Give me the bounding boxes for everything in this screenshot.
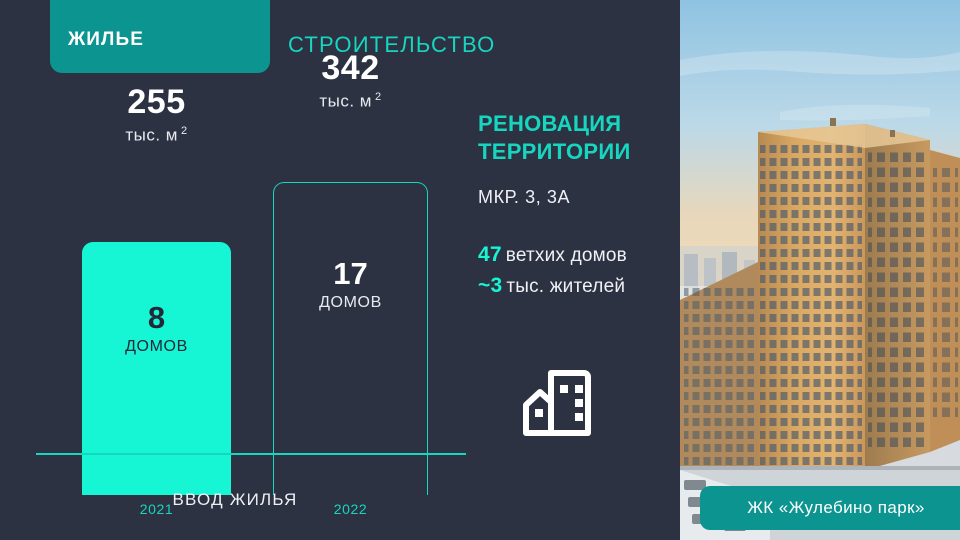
bar-group-2022: 342 тыс. м2 17 ДОМОВ 2022 (273, 137, 428, 495)
bar-group-2021: 255 тыс. м2 8 ДОМОВ 2021 (82, 137, 231, 495)
renovation-panel: РЕНОВАЦИЯ ТЕРРИТОРИИ МКР. 3, 3А 47ветхих… (478, 110, 678, 301)
bar-inner-2022: 17 ДОМОВ (274, 258, 427, 312)
bar-label-2022: 342 тыс. м2 (273, 51, 428, 111)
panel-heading: РЕНОВАЦИЯ ТЕРРИТОРИИ (478, 110, 678, 165)
panel-subtitle: МКР. 3, 3А (478, 187, 678, 208)
tab-zhilye[interactable]: ЖИЛЬЕ (50, 0, 270, 73)
bar-label-2021: 255 тыс. м2 (82, 85, 231, 145)
panel-heading-line2: ТЕРРИТОРИИ (478, 138, 678, 166)
slide-root: ЖИЛЬЕ СТРОИТЕЛЬСТВО 255 тыс. м2 8 ДОМОВ … (0, 0, 960, 540)
bar-count-unit-2022: ДОМОВ (274, 294, 427, 312)
bar-value-2021: 255 (82, 85, 231, 121)
bar-count-2022: 17 (274, 258, 427, 291)
stat-number-residents: ~3 (478, 274, 502, 297)
stat-text-residents: тыс. жителей (506, 276, 625, 297)
housing-bar-chart: 255 тыс. м2 8 ДОМОВ 2021 342 тыс. м2 17 … (0, 95, 470, 495)
bar-count-2021: 8 (82, 302, 231, 335)
stat-number-old-houses: 47 (478, 243, 502, 266)
tab-zhilye-label: ЖИЛЬЕ (68, 29, 144, 51)
building-house-icon (520, 365, 594, 446)
stat-row-residents: ~3тыс. жителей (478, 271, 678, 301)
photo-caption: ЖК «Жулебино парк» (700, 486, 960, 530)
bar-2021[interactable]: 8 ДОМОВ (82, 242, 231, 495)
chart-title: ВВОД ЖИЛЬЯ (0, 490, 470, 510)
stat-text-old-houses: ветхих домов (506, 245, 627, 266)
panel-stats: 47ветхих домов ~3тыс. жителей (478, 240, 678, 301)
residential-tower-photo (680, 0, 960, 540)
bar-unit-2021: тыс. м2 (82, 125, 231, 146)
photo-caption-text: ЖК «Жулебино парк» (747, 498, 925, 518)
chart-axis-line (36, 453, 466, 455)
bar-count-unit-2021: ДОМОВ (82, 338, 231, 356)
panel-heading-line1: РЕНОВАЦИЯ (478, 110, 678, 138)
stat-row-old-houses: 47ветхих домов (478, 240, 678, 270)
bar-inner-2021: 8 ДОМОВ (82, 302, 231, 356)
bar-unit-2022: тыс. м2 (273, 91, 428, 112)
bar-2022[interactable]: 17 ДОМОВ (273, 182, 428, 495)
bar-value-2022: 342 (273, 51, 428, 87)
